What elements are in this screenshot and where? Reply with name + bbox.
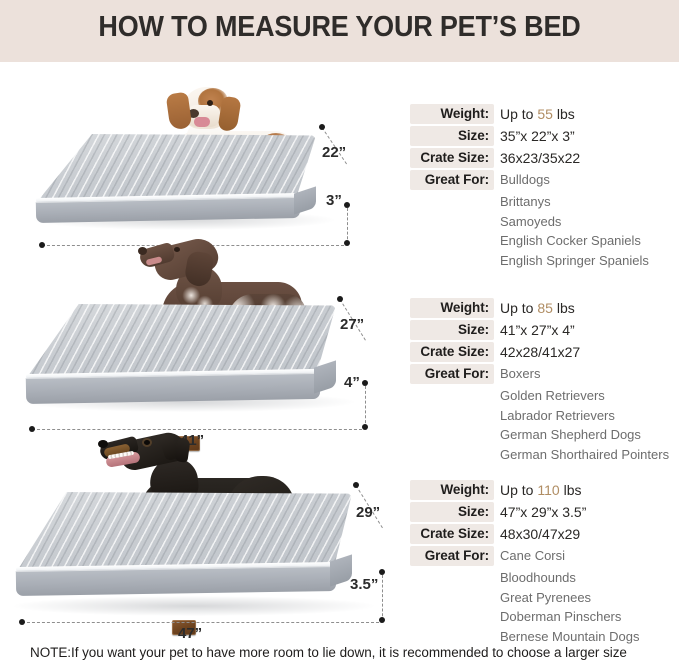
- bed-body: [0, 434, 400, 609]
- dim-dot: [379, 617, 385, 623]
- spec-value-crate-size: 48x30/47x29: [494, 524, 580, 544]
- bed-body: [0, 252, 400, 417]
- spec-value-size: 35”x 22”x 3”: [494, 126, 575, 146]
- spec-label-size: Size:: [410, 502, 494, 522]
- spec-row-weight: Weight: Up to 110 lbs: [410, 480, 679, 500]
- spec-row-crate: Crate Size: 42x28/41x27: [410, 342, 679, 362]
- dim-label-height: 3.5”: [350, 576, 378, 593]
- bed-illustration-medium: 27” 4” 41”: [0, 252, 400, 417]
- spec-table-small: Weight: Up to 55 lbs Size: 35”x 22”x 3” …: [410, 104, 679, 270]
- spec-row-weight: Weight: Up to 55 lbs: [410, 104, 679, 124]
- breed-item: Cane Corsi: [494, 546, 565, 566]
- breed-item: English Cocker Spaniels: [410, 231, 679, 251]
- breed-item: English Springer Spaniels: [410, 251, 679, 271]
- breed-item: Boxers: [494, 364, 540, 384]
- spec-row-great-for: Great For: Bulldogs: [410, 170, 679, 190]
- dim-dot: [353, 482, 359, 488]
- dim-dot: [319, 124, 325, 130]
- breed-item: German Shepherd Dogs: [410, 425, 679, 445]
- spec-label-crate-size: Crate Size:: [410, 524, 494, 544]
- spec-table-medium: Weight: Up to 85 lbs Size: 41”x 27”x 4” …: [410, 298, 679, 464]
- spec-label-weight: Weight:: [410, 480, 494, 500]
- dim-label-depth: 27”: [340, 316, 364, 333]
- bed-side-panel: [26, 373, 320, 404]
- spec-label-great-for: Great For:: [410, 546, 494, 566]
- breed-item: Bernese Mountain Dogs: [410, 627, 679, 647]
- spec-label-crate-size: Crate Size:: [410, 342, 494, 362]
- breed-item: Labrador Retrievers: [410, 406, 679, 426]
- spec-value-weight: Up to 85 lbs: [494, 298, 575, 318]
- spec-row-size: Size: 41”x 27”x 4”: [410, 320, 679, 340]
- breed-item: Great Pyrenees: [410, 588, 679, 608]
- bed-end-cap: [330, 554, 352, 586]
- spec-value-weight: Up to 110 lbs: [494, 480, 581, 500]
- bed-illustration-large: 29” 3.5” 47”: [0, 434, 400, 609]
- bed-illustration-small: 22” 3” 35”: [0, 70, 400, 230]
- dim-dot: [29, 426, 35, 432]
- spec-label-crate-size: Crate Size:: [410, 148, 494, 168]
- dim-label-depth: 29”: [356, 504, 380, 521]
- spec-label-great-for: Great For:: [410, 170, 494, 190]
- breed-item: Bulldogs: [494, 170, 550, 190]
- spec-value-size: 47”x 29”x 3.5”: [494, 502, 586, 522]
- spec-row-great-for: Great For: Cane Corsi: [410, 546, 679, 566]
- spec-row-size: Size: 35”x 22”x 3”: [410, 126, 679, 146]
- breed-item: German Shorthaired Pointers: [410, 445, 679, 465]
- bed-side-panel: [36, 197, 300, 223]
- dim-label-height: 4”: [344, 374, 360, 391]
- spec-row-size: Size: 47”x 29”x 3.5”: [410, 502, 679, 522]
- dim-dot: [337, 296, 343, 302]
- breed-item: Bloodhounds: [410, 568, 679, 588]
- bed-side-panel: [16, 566, 336, 596]
- spec-row-great-for: Great For: Boxers: [410, 364, 679, 384]
- spec-row-crate: Crate Size: 36x23/35x22: [410, 148, 679, 168]
- breed-item: Doberman Pinschers: [410, 607, 679, 627]
- spec-row-weight: Weight: Up to 85 lbs: [410, 298, 679, 318]
- dim-dot: [39, 242, 45, 248]
- breed-item: Samoyeds: [410, 212, 679, 232]
- dim-label-width: 47”: [178, 625, 202, 642]
- spec-label-size: Size:: [410, 320, 494, 340]
- breed-item: Brittanys: [410, 192, 679, 212]
- bed-end-cap: [314, 360, 336, 393]
- spec-label-weight: Weight:: [410, 104, 494, 124]
- dim-label-height: 3”: [326, 192, 342, 209]
- breed-item: Golden Retrievers: [410, 386, 679, 406]
- spec-label-weight: Weight:: [410, 298, 494, 318]
- dim-dot: [19, 619, 25, 625]
- page-title: HOW TO MEASURE YOUR PET’S BED: [24, 11, 655, 44]
- spec-label-great-for: Great For:: [410, 364, 494, 384]
- footer-note: NOTE:If you want your pet to have more r…: [30, 645, 627, 660]
- dim-dot: [362, 424, 368, 430]
- spec-label-size: Size:: [410, 126, 494, 146]
- spec-value-weight: Up to 55 lbs: [494, 104, 575, 124]
- spec-table-large: Weight: Up to 110 lbs Size: 47”x 29”x 3.…: [410, 480, 679, 646]
- spec-value-size: 41”x 27”x 4”: [494, 320, 575, 340]
- spec-row-crate: Crate Size: 48x30/47x29: [410, 524, 679, 544]
- spec-value-crate-size: 36x23/35x22: [494, 148, 580, 168]
- dim-label-depth: 22”: [322, 144, 346, 161]
- dim-dot: [344, 240, 350, 246]
- spec-value-crate-size: 42x28/41x27: [494, 342, 580, 362]
